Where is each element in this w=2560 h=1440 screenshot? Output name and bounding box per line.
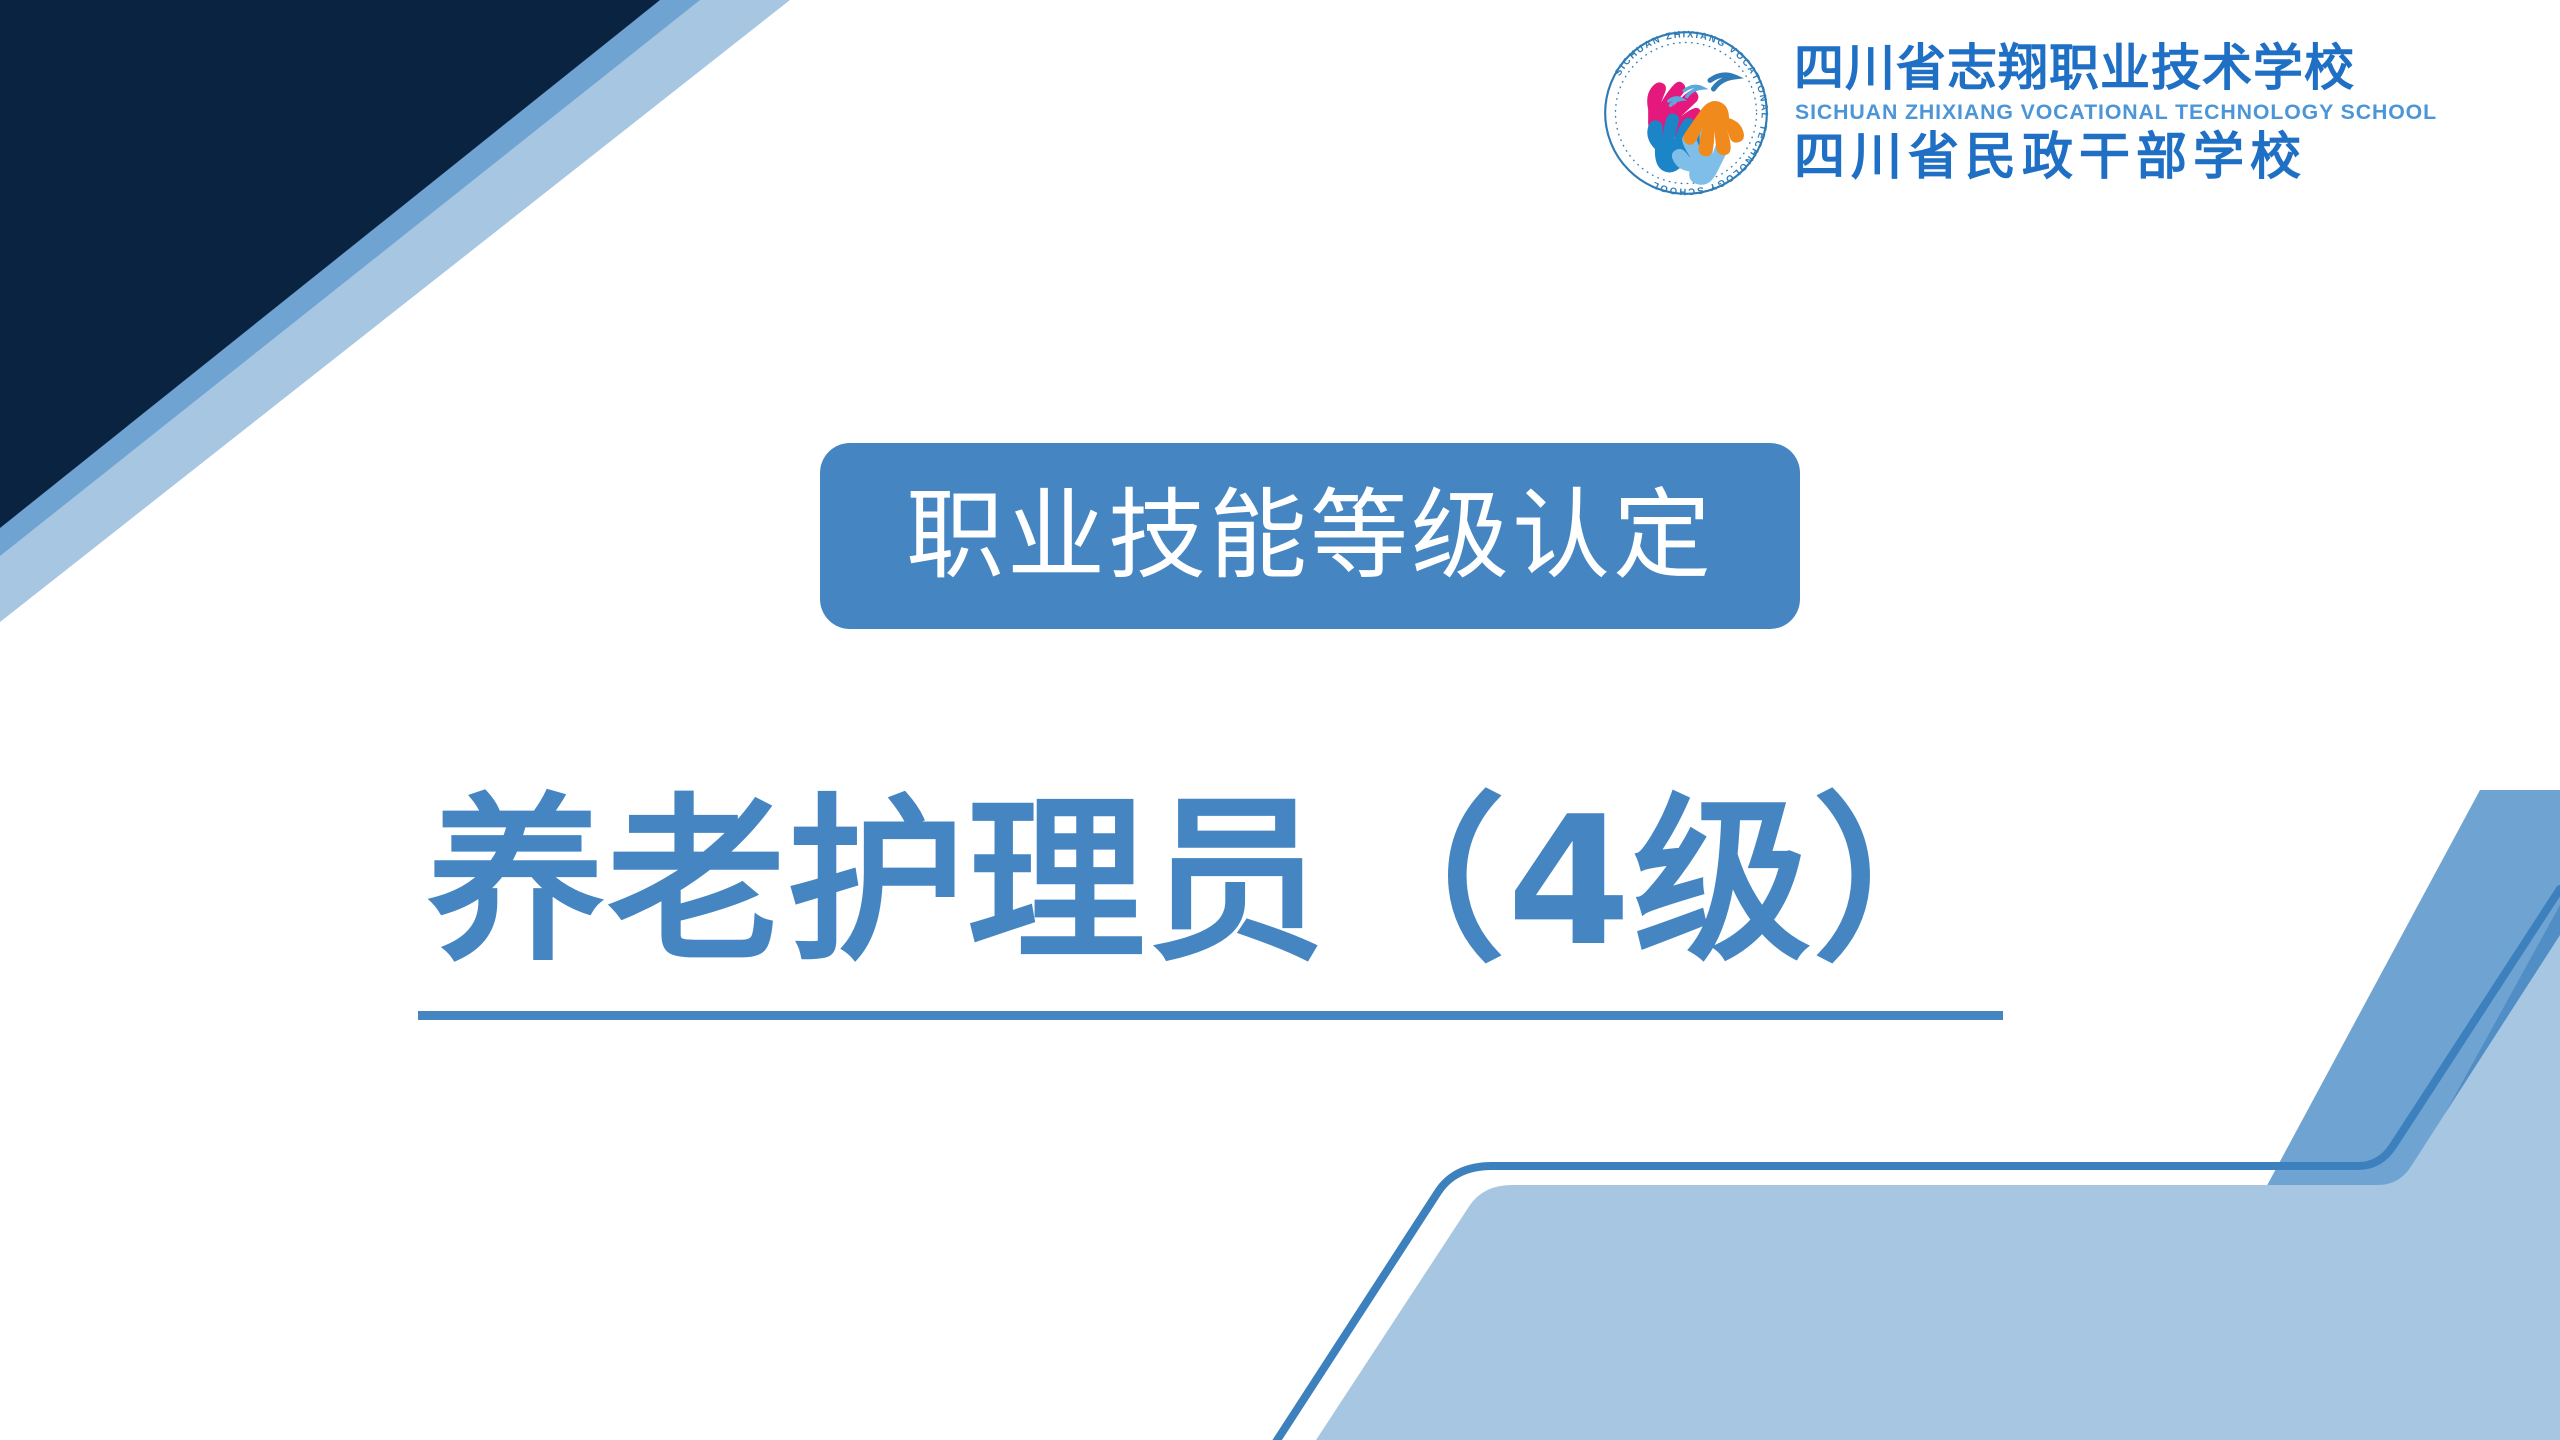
top-left-corner-decoration (0, 0, 2560, 1440)
school-logo-text: 四川省志翔职业技术学校 SICHUAN ZHIXIANG VOCATIONAL … (1794, 43, 2444, 184)
presentation-slide: SICHUAN ZHIXIANG VOCATIONAL TECHNOLOGY S… (0, 0, 2560, 1440)
ribbon-wedge-accent-icon (2265, 905, 2560, 1440)
corner-band-navy-icon (0, 0, 660, 528)
bottom-right-ribbon-decoration (0, 0, 2560, 1440)
page-title: 养老护理员（4级） (0, 788, 2420, 977)
corner-band-light-icon (0, 0, 790, 622)
birds-icon (1710, 75, 1734, 89)
corner-band-mid-icon (0, 0, 700, 556)
title-underline-rule (418, 1011, 2003, 1020)
school-name-primary: 四川省志翔职业技术学校 (1794, 43, 2444, 93)
school-logo: SICHUAN ZHIXIANG VOCATIONAL TECHNOLOGY S… (1600, 18, 2540, 208)
school-name-english: SICHUAN ZHIXIANG VOCATIONAL TECHNOLOGY S… (1795, 102, 2437, 124)
school-emblem-icon: SICHUAN ZHIXIANG VOCATIONAL TECHNOLOGY S… (1600, 27, 1772, 199)
school-name-secondary: 四川省民政干部学校 (1794, 132, 2444, 183)
certification-badge: 职业技能等级认定 (820, 443, 1800, 629)
certification-badge-label: 职业技能等级认定 (906, 487, 1714, 585)
